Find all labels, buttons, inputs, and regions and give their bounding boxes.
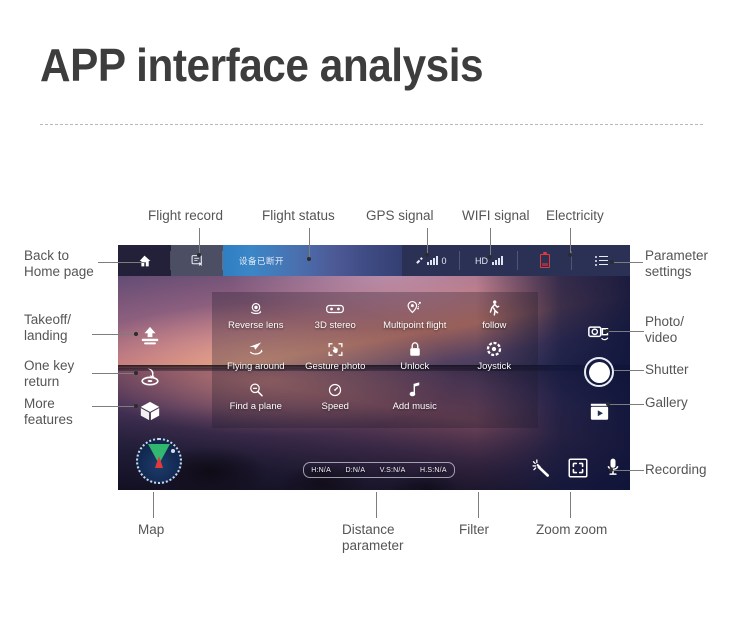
annotation-electricity: Electricity [546,208,604,224]
gps-bars-icon [427,257,438,265]
takeoff-landing-button[interactable] [139,325,161,347]
magic-wand-icon [531,458,551,478]
menu-item-speed[interactable]: Speed [296,381,376,422]
menu-item-label: Gesture photo [305,361,365,372]
menu-item-label: follow [482,320,506,331]
leader-more-features [92,406,136,407]
menu-item-label: Find a plane [230,401,282,412]
zoom-button[interactable] [568,458,588,478]
leader-filter [478,492,479,518]
leader-wifi-signal [490,228,491,257]
one-key-return-button[interactable] [139,365,161,387]
annotation-filter: Filter [459,522,489,538]
back-to-home-button[interactable] [118,245,171,276]
lock-icon [408,341,422,358]
gps-signal-indicator: 0 [402,245,460,276]
leader-one-key-return [92,373,136,374]
shutter-button[interactable] [584,357,614,387]
annotation-photo-video: Photo/ video [645,314,684,345]
annotation-parameter-settings: Parameter settings [645,248,708,279]
reverse-lens-icon [248,300,264,317]
annotation-one-key-return: One key return [24,358,74,389]
distance-param-d: D:N/A [346,467,366,474]
annotation-takeoff-landing: Takeoff/ landing [24,312,71,343]
leader-flight-record [199,228,200,255]
menu-item-label: Reverse lens [228,320,283,331]
annotation-flight-status: Flight status [262,208,335,224]
leader-takeoff-landing [92,334,136,335]
leader-dot-photo-video [605,329,609,333]
app-screenshot-canvas: 设备已断开 0 HD [118,245,630,490]
follow-icon [487,300,501,317]
compass-north-arrow [155,456,163,468]
joystick-icon [486,341,502,358]
menu-item-joystick[interactable]: Joystick [455,341,535,382]
menu-item-add-music[interactable]: Add music [375,381,455,422]
takeoff-landing-icon [139,325,161,347]
annotation-more-features: More features [24,396,73,427]
filter-button[interactable] [531,458,551,478]
menu-item-3d-stereo[interactable]: 3D stereo [296,300,376,341]
wifi-bars-icon [492,257,503,265]
distance-param-hs: H.S:N/A [420,467,447,474]
3d-stereo-icon [326,300,344,317]
home-icon [138,255,151,267]
satellite-icon [415,256,424,265]
leader-photo-video [608,331,644,332]
menu-item-unlock[interactable]: Unlock [375,341,455,382]
flight-status-bar: 设备已断开 [223,245,402,276]
leader-gps-signal [427,228,428,255]
leader-electricity [570,228,571,255]
annotation-wifi-signal: WIFI signal [462,208,530,224]
menu-item-find-a-plane[interactable]: Find a plane [216,381,296,422]
parameter-settings-button[interactable] [572,245,630,276]
battery-icon [540,254,550,268]
battery-indicator [518,245,572,276]
leader-dot-parameter-settings [610,260,614,264]
leader-dot-flight-record [197,253,201,257]
one-key-return-icon [139,365,161,387]
compass-marker-dot [171,449,175,453]
speed-icon [327,381,343,398]
microphone-icon [605,457,621,477]
menu-item-label: 3D stereo [315,320,356,331]
title-divider [40,124,703,125]
leader-dot-one-key-return [134,371,138,375]
menu-item-reverse-lens[interactable]: Reverse lens [216,300,296,341]
gps-value: 0 [441,256,446,266]
more-features-button[interactable] [139,400,161,422]
annotation-back-to-home: Back to Home page [24,248,94,279]
annotation-map: Map [138,522,164,538]
multipoint-flight-icon [406,300,423,317]
leader-dot-more-features [134,404,138,408]
menu-item-label: Speed [322,401,349,412]
wifi-quality-label: HD [475,256,488,266]
map-compass-widget[interactable] [136,438,182,484]
menu-item-multipoint-flight[interactable]: Multipoint flight [375,300,455,341]
leader-map [153,492,154,518]
leader-distance-parameter [376,492,377,518]
wifi-signal-indicator: HD [460,245,518,276]
flight-status-text: 设备已断开 [239,255,284,267]
leader-dot-recording [609,468,613,472]
menu-item-label: Unlock [400,361,429,372]
app-top-bar: 设备已断开 0 HD [118,245,630,276]
leader-flight-status [309,228,310,259]
photo-video-toggle-button[interactable] [588,323,610,343]
distance-param-h: H:N/A [311,467,331,474]
leader-shutter [614,370,644,371]
leader-dot-gallery [606,402,610,406]
leader-back-to-home [98,262,146,263]
flying-around-icon [247,341,265,358]
distance-parameter-box: H:N/A D:N/A V.S:N/A H.S:N/A [303,462,455,478]
annotation-recording: Recording [645,462,707,478]
menu-item-flying-around[interactable]: Flying around [216,341,296,382]
annotation-gps-signal: GPS signal [366,208,434,224]
leader-dot-takeoff-landing [134,332,138,336]
annotation-shutter: Shutter [645,362,689,378]
list-settings-icon [595,256,608,266]
menu-item-label: Flying around [227,361,285,372]
shutter-icon [589,362,610,383]
leader-dot-electricity [568,253,572,257]
flight-record-button[interactable] [171,245,223,276]
menu-item-label: Multipoint flight [383,320,446,331]
leader-dot-wifi-signal [488,255,492,259]
menu-item-label: Joystick [477,361,511,372]
gesture-photo-icon [327,341,344,358]
distance-param-vs: V.S:N/A [380,467,406,474]
camera-video-icon [588,323,610,343]
leader-dot-flight-status [307,257,311,261]
cube-icon [139,400,161,422]
crop-brackets-icon [568,458,588,478]
page-title: APP interface analysis [40,38,483,92]
recording-button[interactable] [605,457,621,477]
leader-zoom-zoom [570,492,571,518]
leader-dot-gps-signal [425,253,429,257]
annotation-zoom-zoom: Zoom zoom [536,522,607,538]
menu-item-gesture-photo[interactable]: Gesture photo [296,341,376,382]
annotation-flight-record: Flight record [148,208,223,224]
menu-item-follow[interactable]: follow [455,300,535,341]
find-a-plane-icon [248,381,264,398]
feature-menu-panel: Reverse lens 3D stereo [212,292,538,428]
annotation-gallery: Gallery [645,395,688,411]
leader-parameter-settings [613,262,643,263]
annotation-distance-parameter: Distance parameter [342,522,404,553]
leader-gallery [609,404,644,405]
music-note-icon [408,381,422,398]
menu-item-label: Add music [393,401,437,412]
leader-recording [612,470,644,471]
